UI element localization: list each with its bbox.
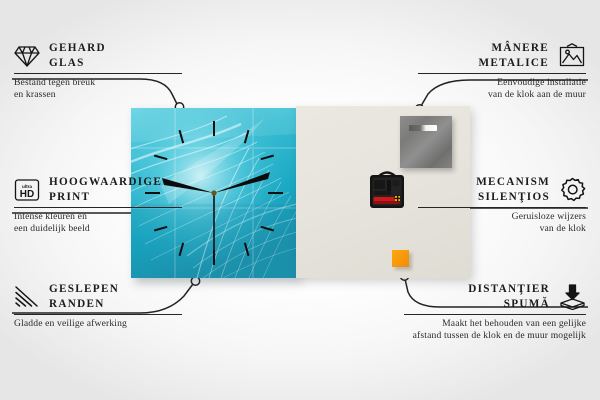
feature-subtitle: Bestand tegen breuk en krassen bbox=[14, 77, 182, 102]
hanger-keyhole-slot bbox=[409, 125, 437, 131]
beveled-edges-icon bbox=[14, 285, 40, 309]
feature-title: MÂNERE METALICE bbox=[479, 41, 550, 70]
metal-hanger-plate bbox=[400, 116, 452, 168]
feature-divider bbox=[14, 73, 182, 74]
minute-hand bbox=[214, 172, 270, 193]
feature-header: DISTANŢIER SPUMĂ bbox=[404, 282, 586, 311]
gear-icon bbox=[559, 177, 586, 203]
feature-divider bbox=[14, 207, 182, 208]
feature-title: GEHARD GLAS bbox=[49, 41, 106, 70]
foam-spacer-arrow-icon bbox=[559, 284, 586, 310]
feature-header: GESLEPEN RANDEN bbox=[14, 282, 182, 311]
ultra-hd-icon: ultra HD bbox=[14, 178, 40, 202]
feature-gehard-glas: GEHARD GLAS Bestand tegen breuk en krass… bbox=[14, 41, 182, 102]
feature-subtitle: Eenvoudige installatie van de klok aan d… bbox=[418, 77, 586, 102]
infographic-canvas: GEHARD GLAS Bestand tegen breuk en krass… bbox=[0, 0, 600, 400]
diamond-icon bbox=[14, 44, 40, 68]
connector-dot-geslepen-randen bbox=[191, 277, 199, 285]
feature-geslepen-randen: GESLEPEN RANDEN Gladde en veilige afwerk… bbox=[14, 282, 182, 330]
feature-title: DISTANŢIER SPUMĂ bbox=[468, 282, 550, 311]
feature-divider bbox=[14, 314, 182, 315]
picture-frame-hook-icon bbox=[558, 43, 586, 68]
feature-header: GEHARD GLAS bbox=[14, 41, 182, 70]
feature-subtitle: Intense kleuren en een duidelijk beeld bbox=[14, 211, 182, 236]
feature-header: ultra HD HOOGWAARDIGE PRINT bbox=[14, 175, 182, 204]
feature-subtitle: Geruisloze wijzers van de klok bbox=[418, 211, 586, 236]
feature-divider bbox=[418, 207, 586, 208]
feature-title: GESLEPEN RANDEN bbox=[49, 282, 119, 311]
feature-subtitle: Maakt het behouden van een gelijke afsta… bbox=[404, 318, 586, 343]
ultra-hd-large-label: HD bbox=[20, 189, 34, 200]
feature-divider bbox=[418, 73, 586, 74]
feature-subtitle: Gladde en veilige afwerking bbox=[14, 318, 182, 330]
feature-distantier-spuma: DISTANŢIER SPUMĂ Maakt het behouden van … bbox=[404, 282, 586, 343]
feature-title: MECANISM SILENŢIOS bbox=[476, 175, 550, 204]
foam-spacer bbox=[392, 250, 409, 267]
feature-manere-metalice: MÂNERE METALICE Eenvoudige installatie v… bbox=[418, 41, 586, 102]
feature-header: MECANISM SILENŢIOS bbox=[418, 175, 586, 204]
feature-divider bbox=[404, 314, 586, 315]
feature-hoogwaardige-print: ultra HD HOOGWAARDIGE PRINT Intense kleu… bbox=[14, 175, 182, 236]
feature-header: MÂNERE METALICE bbox=[418, 41, 586, 70]
feature-mecanism-silentios: MECANISM SILENŢIOS Geruisloze wijzers va… bbox=[418, 175, 586, 236]
clock-mechanism bbox=[368, 170, 406, 210]
hands-center-cap bbox=[211, 190, 216, 195]
feature-title: HOOGWAARDIGE PRINT bbox=[49, 175, 162, 204]
